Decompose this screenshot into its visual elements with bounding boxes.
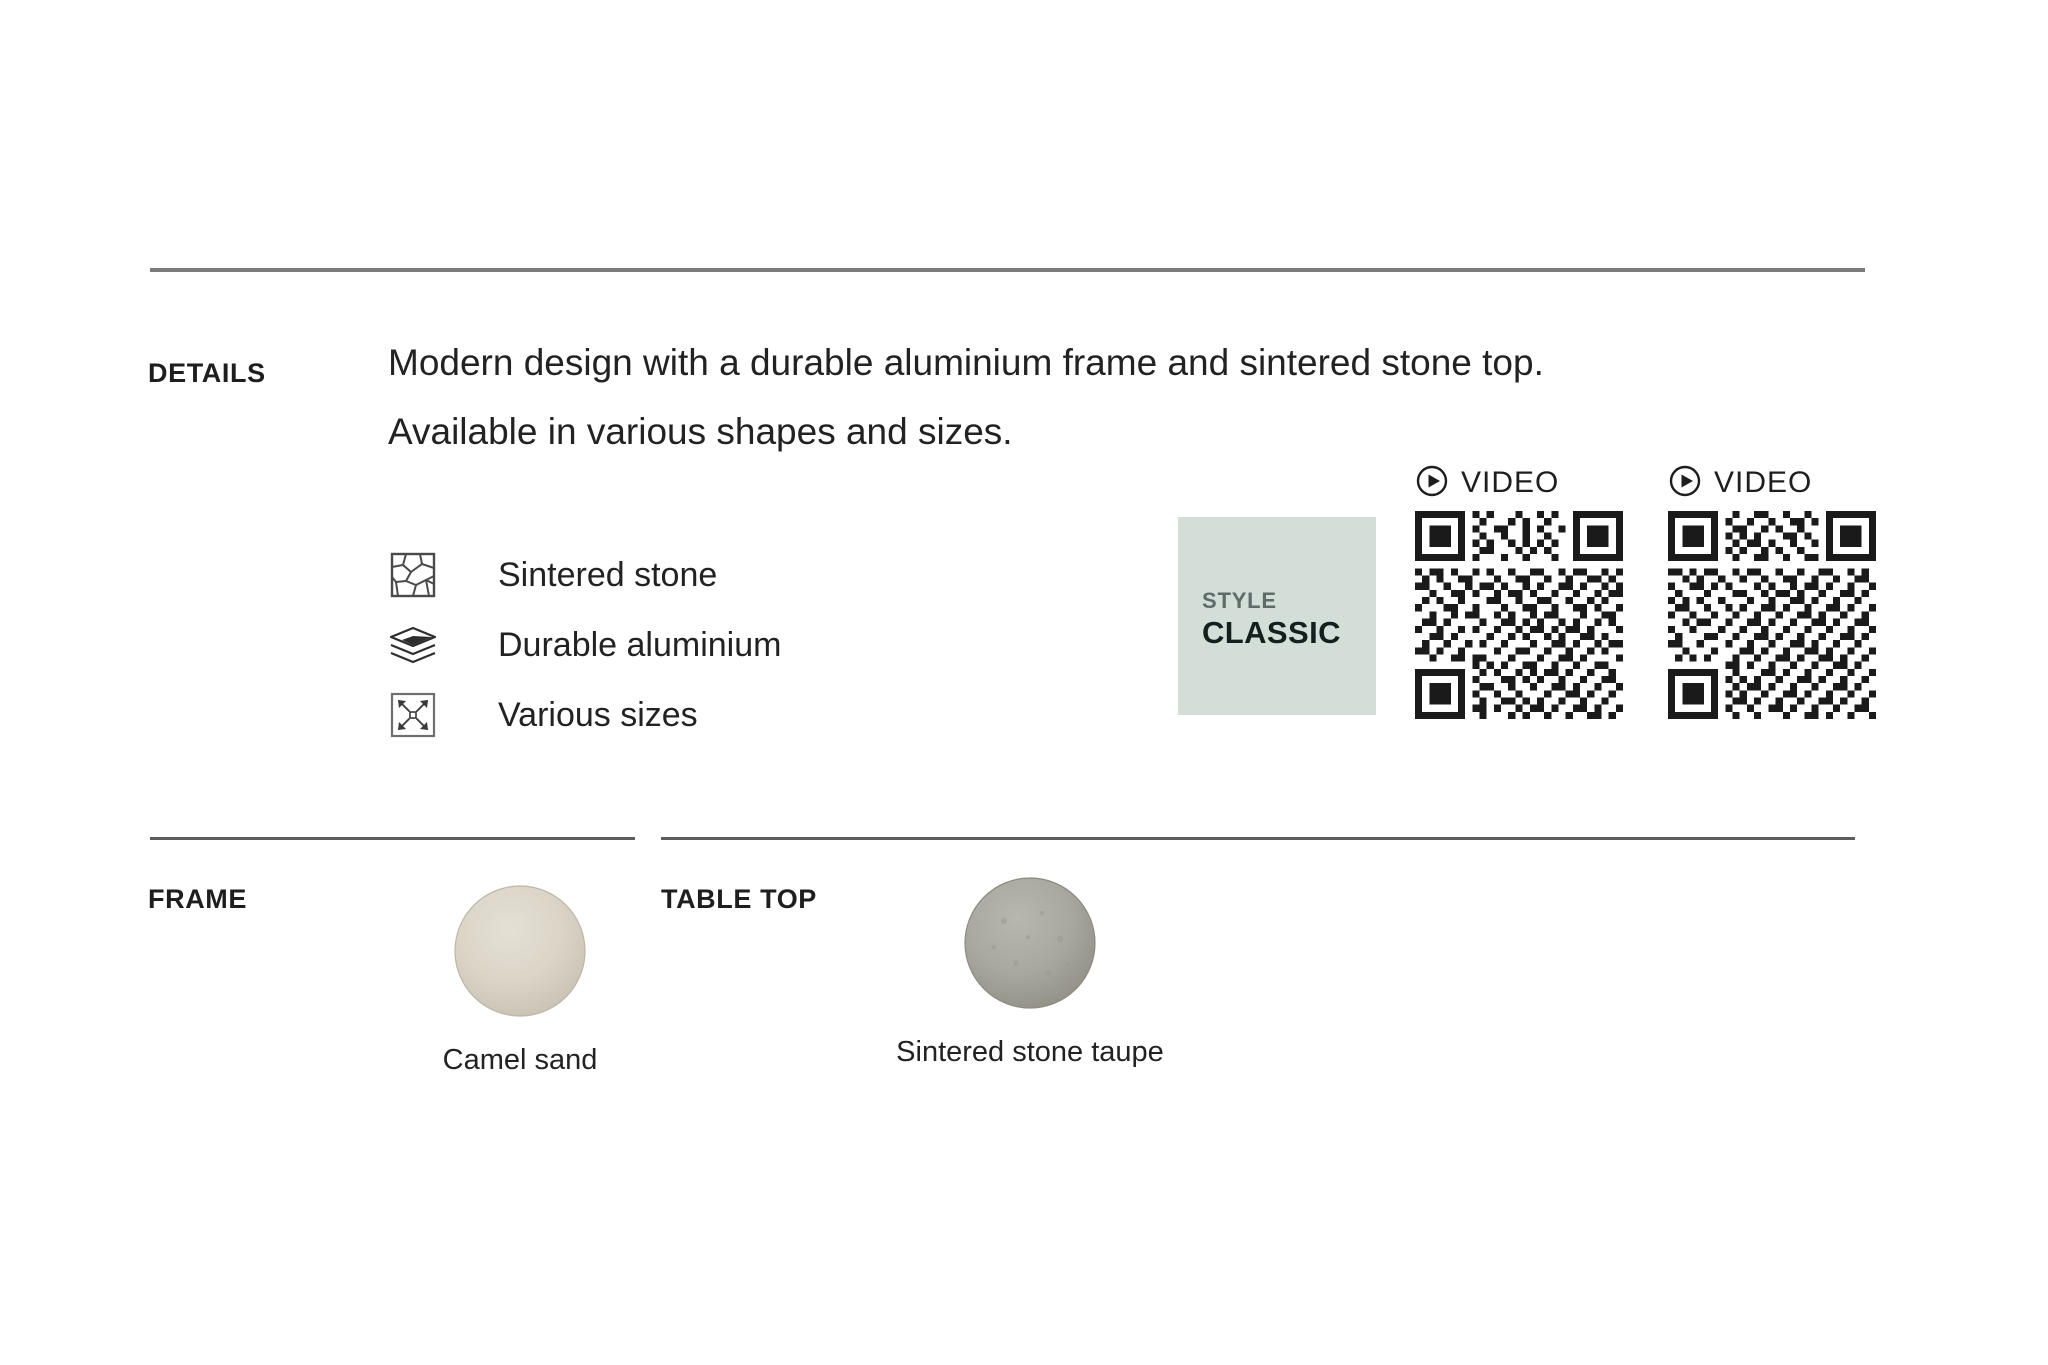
qr-code-2[interactable] — [1668, 511, 1876, 719]
feature-label-durable-aluminium: Durable aluminium — [498, 626, 781, 665]
play-circle-icon[interactable] — [1415, 464, 1449, 503]
style-badge-kicker: STYLE — [1202, 589, 1341, 613]
feature-list: Sintered stone Durable aluminium — [388, 540, 781, 750]
feature-label-various-sizes: Various sizes — [498, 696, 698, 735]
frame-section-label: FRAME — [148, 884, 247, 915]
video-block-2[interactable]: VIDEO — [1668, 460, 1883, 719]
divider-table-top — [661, 837, 1855, 840]
divider-top — [150, 268, 1865, 272]
feature-item-durable-aluminium: Durable aluminium — [388, 610, 781, 680]
video-label-2: VIDEO — [1714, 466, 1812, 500]
table-top-section-label: TABLE TOP — [661, 884, 817, 915]
sintered-stone-icon — [388, 550, 438, 600]
video-block-1[interactable]: VIDEO — [1415, 460, 1630, 719]
style-badge: STYLE CLASSIC — [1178, 517, 1376, 715]
swatch-disc-sintered-stone-taupe[interactable] — [964, 877, 1096, 1009]
qr-code-1[interactable] — [1415, 511, 1623, 719]
feature-item-various-sizes: Various sizes — [388, 680, 781, 750]
description-line-2: Available in various shapes and sizes. — [388, 406, 1858, 459]
resize-arrows-icon — [388, 690, 438, 740]
feature-item-sintered-stone: Sintered stone — [388, 540, 781, 610]
details-section-label: DETAILS — [148, 358, 266, 389]
swatch-disc-camel-sand[interactable] — [454, 885, 586, 1017]
feature-label-sintered-stone: Sintered stone — [498, 556, 717, 595]
details-description: Modern design with a durable aluminium f… — [388, 337, 1858, 474]
layers-icon — [388, 620, 438, 670]
swatch-frame-camel-sand[interactable]: Camel sand — [370, 885, 670, 1078]
style-badge-value: CLASSIC — [1202, 615, 1341, 651]
swatch-caption-sintered-stone-taupe: Sintered stone taupe — [880, 1035, 1180, 1070]
description-line-1: Modern design with a durable aluminium f… — [388, 337, 1858, 390]
swatch-caption-camel-sand: Camel sand — [370, 1043, 670, 1078]
swatch-table-top-sintered-stone-taupe[interactable]: Sintered stone taupe — [880, 877, 1180, 1070]
video-label-1: VIDEO — [1461, 466, 1559, 500]
divider-frame — [150, 837, 635, 840]
play-circle-icon[interactable] — [1668, 464, 1702, 503]
